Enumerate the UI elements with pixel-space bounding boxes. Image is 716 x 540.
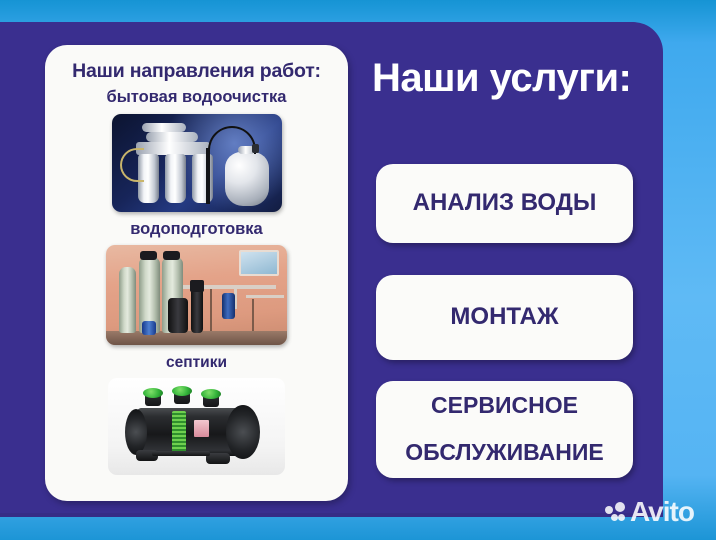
service-button-label-line-2: ОБСЛУЖИВАНИЕ (397, 441, 611, 465)
avito-dots-icon (605, 502, 626, 522)
water-treatment-tanks-photo (106, 245, 287, 345)
faucet-stem (206, 148, 210, 204)
control-column (191, 285, 203, 333)
advertisement-image: Наши направления работ: бытовая водоочис… (0, 0, 716, 540)
wall-wire (252, 299, 254, 331)
service-button-label-line-1: СЕРВИСНОЕ (397, 394, 611, 418)
category-label-septic-systems: септики (45, 355, 348, 371)
wall-wire-2 (210, 289, 212, 331)
service-button-label: АНАЛИЗ ВОДЫ (405, 191, 605, 216)
control-valve-head (190, 280, 204, 292)
card-headline: Наши направления работ: (45, 61, 348, 81)
service-button-water-analysis[interactable]: АНАЛИЗ ВОДЫ (376, 164, 633, 243)
wall-pipe-horizontal (168, 285, 276, 289)
filter-membrane-housing (146, 132, 198, 142)
avito-watermark: Avito (605, 498, 694, 526)
category-label-water-treatment: водоподготовка (45, 221, 348, 238)
brine-tank (168, 298, 188, 333)
work-directions-card: Наши направления работ: бытовая водоочис… (45, 45, 348, 501)
septic-tank-end-cap (226, 405, 260, 459)
service-button-installation[interactable]: МОНТАЖ (376, 275, 633, 360)
service-button-label: СЕРВИСНОЕ ОБСЛУЖИВАНИЕ (389, 394, 619, 466)
services-title: Наши услуги: (372, 58, 652, 98)
tank-valve-head-1 (140, 251, 157, 260)
pressure-tank (225, 152, 269, 206)
septic-skid-rail (152, 451, 210, 456)
septic-tank-photo (108, 378, 285, 475)
filter-manifold (136, 142, 210, 155)
wall-pipe-horizontal-2 (246, 295, 284, 298)
room-floor (106, 331, 287, 345)
category-label-household-water-purification: бытовая водоочистка (45, 89, 348, 106)
septic-filter-media (172, 411, 186, 453)
treatment-tank-1 (119, 267, 136, 333)
tank-valve (252, 144, 259, 153)
service-button-maintenance[interactable]: СЕРВИСНОЕ ОБСЛУЖИВАНИЕ (376, 381, 633, 478)
filter-housing-2 (165, 154, 186, 203)
blue-salt-drum (142, 321, 156, 335)
septic-sticker (194, 420, 209, 437)
filter-membrane-top (142, 123, 186, 132)
blue-cartridge-filter (222, 293, 235, 319)
room-window (239, 250, 279, 276)
avito-wordmark: Avito (630, 498, 694, 526)
tank-valve-head-2 (163, 251, 180, 260)
service-button-label: МОНТАЖ (442, 305, 566, 330)
reverse-osmosis-filter-photo (112, 114, 282, 212)
